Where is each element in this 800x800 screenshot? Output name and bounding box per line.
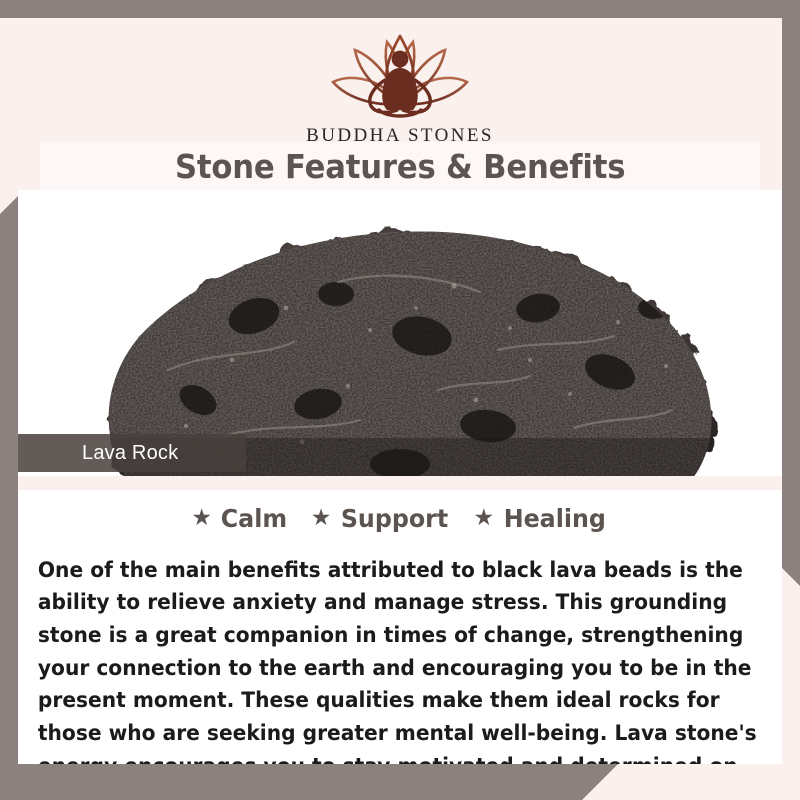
frame-bar-right [782, 0, 800, 586]
benefits-description: One of the main benefits attributed to b… [36, 555, 761, 765]
star-icon: ★ [473, 507, 494, 530]
feature-label: Healing [504, 504, 606, 533]
content-card: BUDDHA STONES Stone Features & Benefits [18, 18, 782, 764]
stone-name-badge: Lava Rock [18, 434, 246, 472]
lotus-meditation-figure-icon [307, 26, 493, 124]
feature-item-healing: ★ Healing [473, 504, 608, 533]
title-banner: Stone Features & Benefits [40, 142, 760, 190]
frame-bar-bottom [0, 764, 618, 800]
feature-label: Calm [221, 504, 287, 533]
feature-list: ★ Calm ★ Support ★ Healing [36, 504, 764, 533]
stone-name-text: Lava Rock [82, 442, 178, 465]
frame-bar-top [0, 0, 800, 18]
brand-logo: BUDDHA STONES [18, 26, 782, 147]
star-icon: ★ [191, 507, 212, 530]
benefits-section: ★ Calm ★ Support ★ Healing One of the ma… [18, 490, 782, 764]
feature-item-support: ★ Support [311, 504, 452, 533]
hero-image-section: Lava Rock [18, 190, 782, 490]
feature-item-calm: ★ Calm [191, 504, 288, 533]
hero-divider [18, 476, 782, 490]
meditation-figure [382, 51, 418, 110]
page-title: Stone Features & Benefits [175, 147, 625, 186]
poster-root: BUDDHA STONES Stone Features & Benefits [0, 0, 800, 800]
feature-label: Support [341, 504, 448, 533]
header: BUDDHA STONES Stone Features & Benefits [18, 18, 782, 190]
frame-bar-left [0, 196, 18, 800]
star-icon: ★ [311, 507, 332, 530]
